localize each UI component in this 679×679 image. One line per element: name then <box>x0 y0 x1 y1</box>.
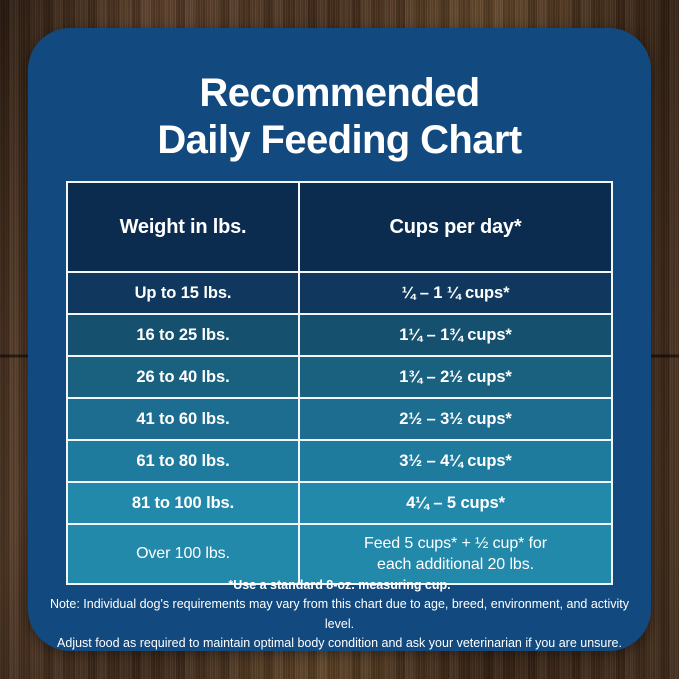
page-title: Recommended Daily Feeding Chart <box>28 70 651 164</box>
cell-cups-line-1: Feed 5 cups* + ½ cup* for <box>364 533 547 554</box>
cell-cups: Feed 5 cups* + ½ cup* for each additiona… <box>300 525 611 583</box>
feeding-chart-table: Weight in lbs. Cups per day* Up to 15 lb… <box>66 181 613 585</box>
cell-weight: 81 to 100 lbs. <box>68 483 300 523</box>
footnotes: *Use a standard 8-oz. measuring cup. Not… <box>46 576 633 654</box>
table-row: Up to 15 lbs. ¼ – 1 ¼ cups* <box>68 273 611 315</box>
cell-weight: Up to 15 lbs. <box>68 273 300 313</box>
table-row: 26 to 40 lbs. 1¾ – 2½ cups* <box>68 357 611 399</box>
cell-cups: ¼ – 1 ¼ cups* <box>300 273 611 313</box>
footnote-note-line-1: Note: Individual dog's requirements may … <box>46 595 633 634</box>
table-row: Over 100 lbs. Feed 5 cups* + ½ cup* for … <box>68 525 611 583</box>
title-line-2: Daily Feeding Chart <box>28 117 651 164</box>
table-header-row: Weight in lbs. Cups per day* <box>68 183 611 273</box>
footnote-note-line-2: Adjust food as required to maintain opti… <box>46 634 633 653</box>
cell-cups-line-2: each additional 20 lbs. <box>364 554 547 575</box>
cell-weight: 26 to 40 lbs. <box>68 357 300 397</box>
column-header-weight: Weight in lbs. <box>68 183 300 271</box>
column-header-cups: Cups per day* <box>300 183 611 271</box>
table-row: 16 to 25 lbs. 1¼ – 1¾ cups* <box>68 315 611 357</box>
feeding-chart-card: Recommended Daily Feeding Chart Weight i… <box>28 28 651 651</box>
title-line-1: Recommended <box>28 70 651 117</box>
cell-weight: Over 100 lbs. <box>68 525 300 583</box>
cell-weight: 61 to 80 lbs. <box>68 441 300 481</box>
cell-weight: 16 to 25 lbs. <box>68 315 300 355</box>
cell-cups: 1¼ – 1¾ cups* <box>300 315 611 355</box>
cell-cups: 4¼ – 5 cups* <box>300 483 611 523</box>
table-row: 81 to 100 lbs. 4¼ – 5 cups* <box>68 483 611 525</box>
cell-cups: 1¾ – 2½ cups* <box>300 357 611 397</box>
table-row: 61 to 80 lbs. 3½ – 4¼ cups* <box>68 441 611 483</box>
cell-cups: 2½ – 3½ cups* <box>300 399 611 439</box>
cell-weight: 41 to 60 lbs. <box>68 399 300 439</box>
footnote-standard-cup: *Use a standard 8-oz. measuring cup. <box>46 576 633 595</box>
cell-cups: 3½ – 4¼ cups* <box>300 441 611 481</box>
table-row: 41 to 60 lbs. 2½ – 3½ cups* <box>68 399 611 441</box>
